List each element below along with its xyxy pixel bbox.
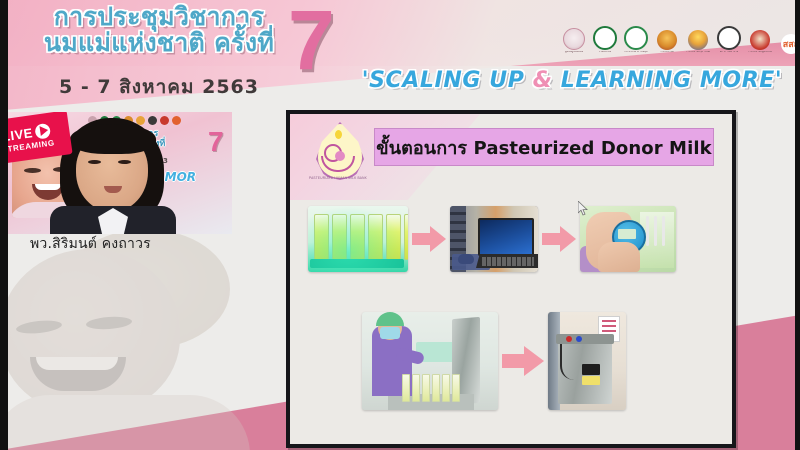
- conference-title: การประชุมวิชาการ นมแม่แห่งชาติ ครั้งที่: [24, 4, 294, 56]
- process-row-2: [362, 312, 718, 410]
- red-knob: [566, 336, 572, 342]
- surgical-mask: [380, 327, 400, 339]
- nursing-council-logo: สภาการพยาบาล: [717, 24, 741, 54]
- royal-emblem-logo: ราชวิทยาลัย: [655, 24, 679, 54]
- logo-mark: [624, 26, 648, 50]
- poster-edition-number: 7: [208, 128, 224, 156]
- hand-lower: [598, 242, 640, 272]
- tagline-suffix: LEARNING MORE': [553, 68, 783, 93]
- webinar-slide-screen: การประชุมวิชาการ นมแม่แห่งชาติ ครั้งที่ …: [0, 0, 800, 450]
- royal-thai-college-logo: ราชวิทยาลัยสูตินรีแพทย์: [748, 24, 772, 54]
- live-video-panel[interactable]: การประชุมวิชาการ นมแม่แห่งชาติ ครั้งที่ …: [0, 112, 232, 234]
- tagline-prefix: 'SCALING UP: [362, 68, 533, 93]
- logo-mark: [593, 26, 617, 50]
- logo-mark: [563, 28, 585, 50]
- pasteurized-human-milk-bank-logo: PASTEURIZED HUMAN MILK BANK: [310, 120, 366, 188]
- computer-mouse: [458, 254, 474, 264]
- power-cord: [560, 344, 578, 380]
- speaker-eye-left: [88, 160, 101, 164]
- conference-tagline: 'SCALING UP & LEARNING MORE': [352, 68, 792, 93]
- photo-laptop-workstation: [450, 206, 538, 272]
- thai-breastfeeding-foundation-logo: มูลนิธิศูนย์นมแม่: [562, 24, 586, 54]
- logo-caption: ราชวิทยาลัยสูตินรีแพทย์: [748, 51, 772, 54]
- right-arrow-icon: [502, 346, 544, 376]
- conference-date: 5 - 7 สิงหาคม 2563: [24, 72, 294, 102]
- right-arrow-icon: [412, 226, 446, 252]
- ministry-public-health-logo: กรมอนามัย: [593, 24, 617, 54]
- child-watermark-image: [0, 235, 290, 430]
- photo-milk-bottles-pallet: [308, 206, 408, 272]
- speaker-fringe: [70, 124, 156, 154]
- laptop-keyboard: [482, 257, 534, 266]
- logo-mark: [688, 30, 708, 50]
- photo-pasteurizer-machine: [548, 312, 626, 410]
- play-icon: [35, 122, 52, 139]
- child-eye-left: [24, 168, 41, 173]
- right-arrow-icon: [542, 226, 576, 252]
- logo-caption: มูลนิธิศูนย์นมแม่: [565, 51, 583, 54]
- logo-caption: กระทรวงสาธารณสุข: [624, 51, 647, 54]
- speaker-eye-right: [118, 160, 131, 164]
- health-department-logo: กระทรวงสาธารณสุข: [624, 24, 648, 54]
- tagline-ampersand: &: [533, 68, 553, 93]
- process-row-1: [308, 206, 718, 272]
- logo-caption: PASTEURIZED HUMAN MILK BANK: [308, 176, 368, 180]
- photo-glow-overlay: [308, 206, 408, 272]
- presentation-slide: PASTEURIZED HUMAN MILK BANK ขั้นตอนการ P…: [286, 110, 736, 448]
- speaker-name-caption: พว.สิริมนต์ คงถาวร: [30, 233, 260, 255]
- royal-college-pediatrics-logo: ราชวิทยาลัยกุมารแพทย์: [686, 24, 710, 54]
- watermark-body: [0, 395, 250, 450]
- blue-knob: [576, 336, 582, 342]
- logo-mark: [750, 30, 770, 50]
- laptop-screen: [478, 218, 534, 256]
- logo-caption: กรมอนามัย: [599, 51, 612, 54]
- machine-label: [582, 376, 600, 385]
- logo-caption: สภาการพยาบาล: [720, 51, 739, 54]
- edition-number: 7: [288, 0, 335, 82]
- left-black-edge: [0, 0, 8, 450]
- mouse-pointer-icon: [578, 201, 590, 217]
- logo-mark: [717, 26, 741, 50]
- sponsor-logo-row: มูลนิธิศูนย์นมแม่ กรมอนามัย กระทรวงสาธาร…: [562, 24, 800, 54]
- timer-display: [618, 229, 636, 239]
- speaker-video-figure: [52, 118, 174, 234]
- milk-bottle-basket: [402, 374, 460, 402]
- conference-title-line1: การประชุมวิชาการ: [24, 4, 294, 30]
- logo-mark: [657, 30, 677, 50]
- pasteurizer-lid: [556, 334, 614, 344]
- conference-title-line2: นมแม่แห่งชาติ ครั้งที่: [24, 30, 294, 56]
- milk-drop-highlight: [335, 130, 342, 139]
- slide-title-banner: ขั้นตอนการ Pasteurized Donor Milk: [374, 128, 714, 166]
- watermark-teeth: [36, 357, 118, 370]
- logo-caption: ราชวิทยาลัยกุมารแพทย์: [686, 51, 710, 54]
- control-panel-display: [582, 364, 600, 375]
- photo-digital-timer-thermometer: [580, 206, 676, 272]
- logo-caption: ราชวิทยาลัย: [660, 51, 674, 54]
- photo-nurse-loading-bottles: [362, 312, 498, 410]
- right-black-edge: [795, 0, 800, 450]
